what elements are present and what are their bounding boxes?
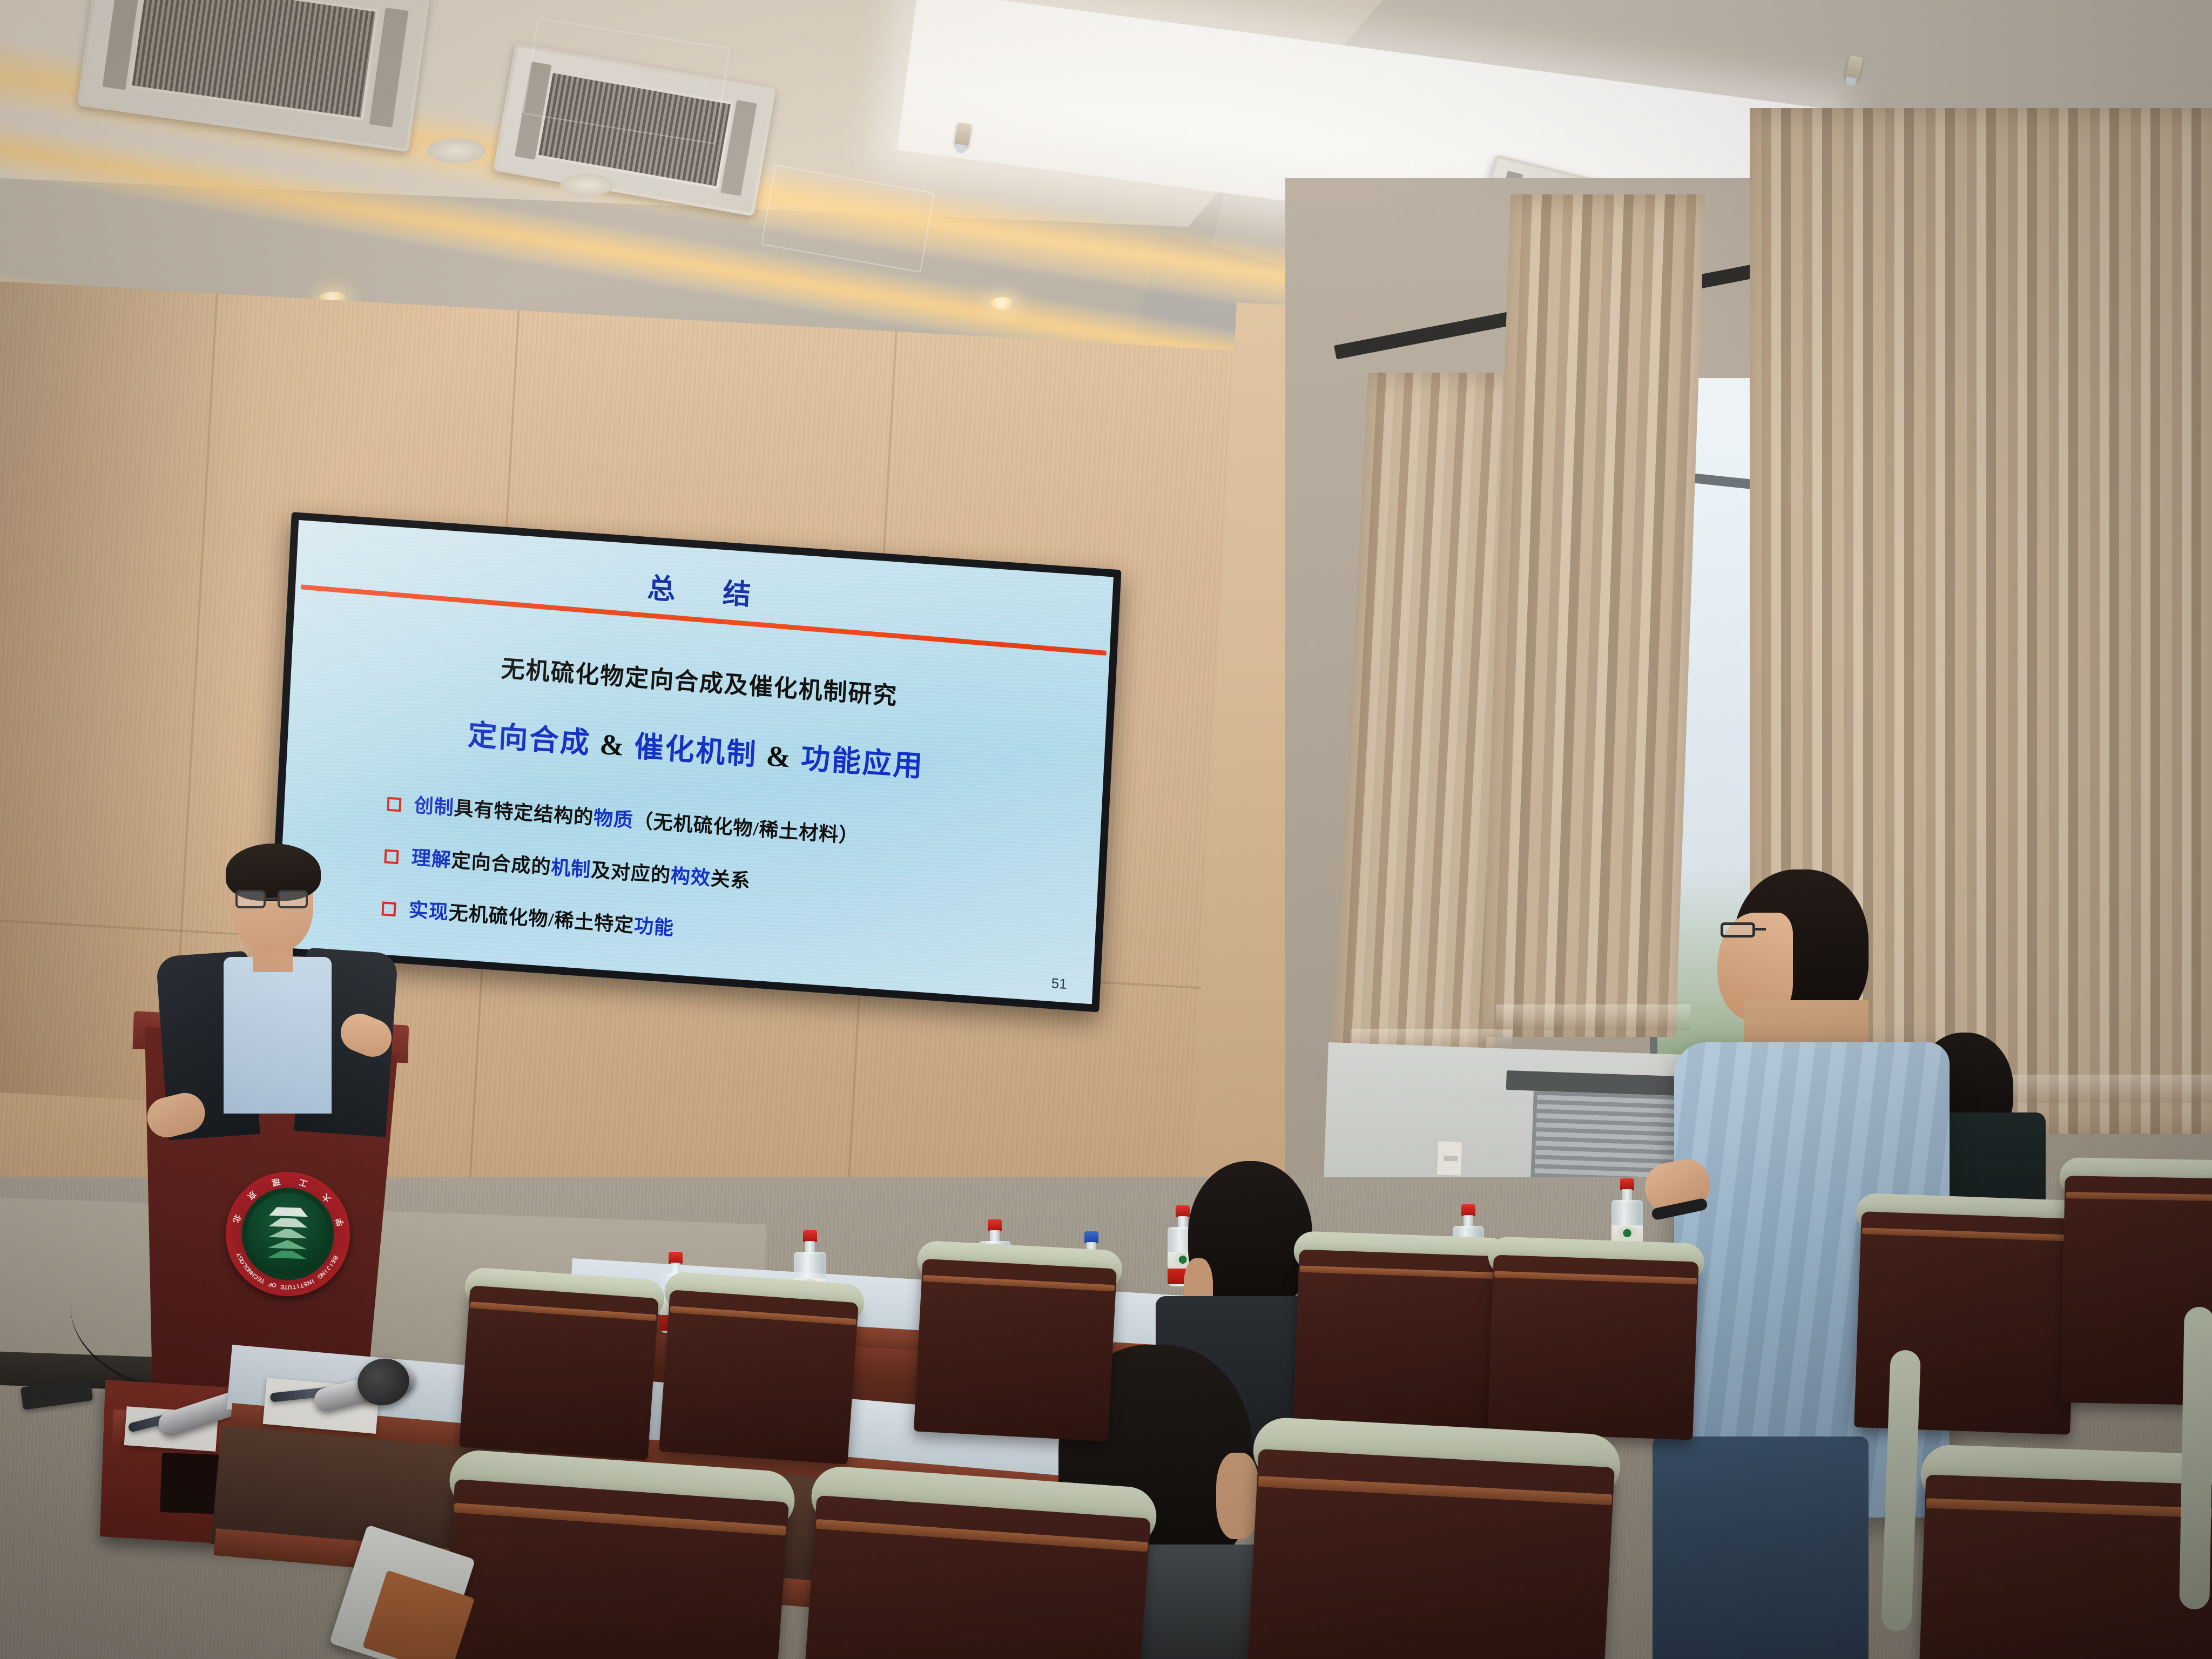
slide-canvas: 总 结 无机硫化物定向合成及催化机制研究 定向合成 & 催化机制 & 功能应用 …	[277, 520, 1114, 1004]
glasses-bridge	[1754, 928, 1766, 930]
standing-attendee-jeans	[1653, 1437, 1869, 1659]
bullet-seg: （无机硫化物/稀土材料）	[633, 810, 859, 847]
bottle-logo-icon	[1618, 1226, 1637, 1240]
emblem-ring-char: U	[288, 1284, 292, 1290]
bullet-square-icon	[381, 901, 396, 916]
glasses-lens-right	[278, 890, 308, 908]
bottle-cap	[1620, 1178, 1634, 1190]
bottle-cap	[988, 1219, 1002, 1231]
seat-back	[804, 1495, 1151, 1659]
bottle-cap	[1084, 1231, 1098, 1243]
bottle-cap	[803, 1230, 817, 1242]
seat-back	[1854, 1211, 2078, 1435]
curtain-hem	[1495, 1004, 1691, 1030]
projection-screen[interactable]: 总 结 无机硫化物定向合成及催化机制研究 定向合成 & 催化机制 & 功能应用 …	[269, 512, 1122, 1012]
standing-attendee-glasses-icon	[1721, 922, 1784, 939]
auditorium-seat[interactable]	[442, 1479, 789, 1659]
bullet-seg: 实现	[408, 899, 449, 923]
auditorium-seat[interactable]	[914, 1259, 1117, 1441]
bullet-seg: 创制	[414, 794, 455, 819]
emblem-ring-char: 理	[271, 1176, 281, 1189]
bullet-seg: 及对应的	[590, 859, 671, 886]
auditorium-seat[interactable]	[1293, 1249, 1504, 1434]
emblem-ring-char: E	[280, 1283, 285, 1290]
emblem-ring-text: 北京理工大学BEIJING INSTITUTE OF TECHNOLOGY	[224, 1170, 352, 1298]
emblem-ring-char: 工	[298, 1177, 308, 1190]
glasses-lens-left	[235, 890, 266, 908]
highlight-amp-2: &	[765, 739, 793, 773]
bullet-seg: 机制	[550, 857, 591, 881]
auditorium-seat[interactable]	[1919, 1474, 2212, 1659]
slide-bullet-list: 创制具有特定结构的物质（无机硫化物/稀土材料） 理解定向合成的机制及对应的构效关…	[380, 792, 1078, 997]
bullet-seg: 物质	[593, 807, 634, 831]
bullet-seg: 无机硫化物/稀土特定	[448, 902, 635, 936]
slide-page-number: 51	[1051, 975, 1067, 993]
wall-outlet-icon	[1436, 1140, 1463, 1177]
bullet-seg: 具有特定结构的	[454, 797, 594, 828]
ac-grille	[129, 0, 379, 120]
speaker-glasses-icon	[235, 890, 311, 909]
bullet-seg: 构效	[670, 865, 711, 889]
ceiling-speaker-icon	[427, 138, 486, 163]
bullet-text: 实现无机硫化物/稀土特定功能	[408, 898, 675, 941]
auditorium-seat[interactable]	[804, 1495, 1151, 1659]
glasses-lens-left	[1721, 922, 1755, 938]
bullet-seg: 功能	[633, 915, 675, 939]
university-emblem: 北京理工大学BEIJING INSTITUTE OF TECHNOLOGY	[224, 1170, 352, 1298]
auditorium-seat[interactable]	[659, 1290, 859, 1465]
bullet-seg: 关系	[710, 868, 751, 892]
emblem-ring-char: 大	[320, 1191, 334, 1205]
emblem-ring-char: T	[284, 1284, 288, 1290]
highlight-amp-1: &	[599, 728, 626, 762]
curtain-panel	[1481, 194, 1705, 1037]
bullet-text: 创制具有特定结构的物质（无机硫化物/稀土材料）	[414, 793, 859, 849]
bullet-seg: 理解	[411, 847, 452, 871]
bullet-square-icon	[384, 849, 399, 864]
bottle-cap	[1176, 1205, 1190, 1217]
bullet-square-icon	[387, 797, 401, 812]
auditorium-seat[interactable]	[1487, 1255, 1698, 1440]
bottle-cap	[1461, 1204, 1475, 1216]
highlight-term-1: 定向合成	[467, 719, 592, 760]
seat-armrest	[2179, 1307, 2212, 1610]
attendee-ear	[1216, 1453, 1259, 1539]
bottle-cap	[669, 1252, 683, 1264]
lecture-hall-photo: 总 结 无机硫化物定向合成及催化机制研究 定向合成 & 催化机制 & 功能应用 …	[0, 0, 2212, 1659]
ceiling-speaker-icon	[559, 174, 613, 197]
speaker-shirt	[224, 957, 332, 1114]
highlight-term-3: 功能应用	[800, 742, 925, 783]
emblem-ring-char: 学	[333, 1217, 346, 1227]
auditorium-seat[interactable]	[1854, 1211, 2078, 1435]
emblem-ring-char: 京	[245, 1189, 259, 1203]
emblem-ring-char: T	[292, 1283, 296, 1290]
bullet-text: 理解定向合成的机制及对应的构效关系	[411, 846, 751, 894]
auditorium-seat[interactable]	[459, 1285, 659, 1460]
highlight-term-2: 催化机制	[633, 730, 758, 771]
bullet-seg: 定向合成的	[451, 849, 552, 878]
downlight-icon	[989, 297, 1015, 310]
auditorium-seat[interactable]	[1247, 1449, 1615, 1659]
emblem-ring-char: 北	[231, 1213, 244, 1224]
glasses-bridge	[266, 898, 278, 900]
